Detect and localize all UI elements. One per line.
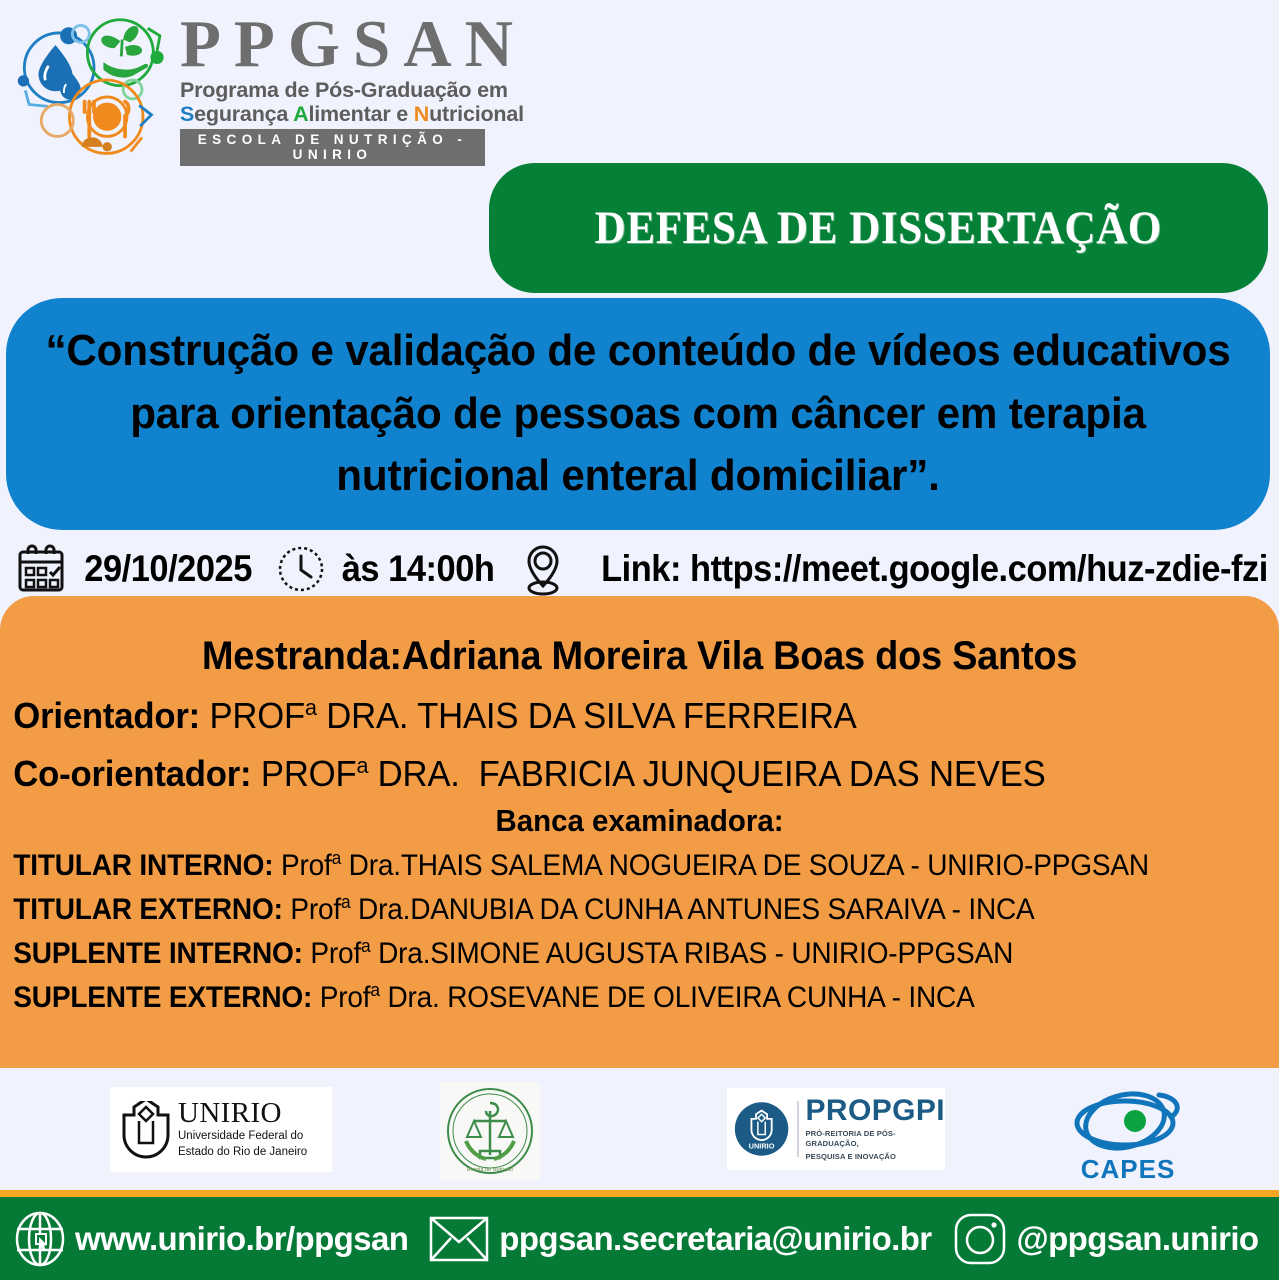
footer-accent-bar [0, 1190, 1279, 1197]
logo-acronym: PPGSAN [180, 13, 526, 77]
board-title: Banca examinadora: [32, 803, 1247, 839]
escola-nutricao-logo: Escola de Nutrição [440, 1082, 540, 1180]
globe-icon [14, 1210, 66, 1268]
ppgsan-logo-text: PPGSAN Programa de Pós-Graduação em Segu… [180, 9, 526, 166]
propgpi-badge-text: UNIRIO [749, 1141, 775, 1150]
capes-name: CAPES [1063, 1154, 1193, 1185]
footer-email-text[interactable]: ppgsan.secretaria@unirio.br [499, 1220, 931, 1258]
footer-website[interactable]: www.unirio.br/ppgsan [14, 1210, 408, 1268]
board-role: SUPLENTE INTERNO: [13, 937, 302, 970]
student-label: Mestranda: [202, 634, 402, 678]
board-member-name: Profa Dra.SIMONE AUGUSTA RIBAS - UNIRIO-… [310, 937, 1013, 970]
propgpi-sub2: PESQUISA E INOVAÇÃO [806, 1152, 946, 1162]
calendar-icon [14, 542, 68, 596]
coadvisor-row: Co-orientador: PROFa DRA. FABRICIA JUNQU… [0, 753, 1215, 795]
unirio-sub2: Estado do Rio de Janeiro [178, 1146, 307, 1160]
footer-email[interactable]: ppgsan.secretaria@unirio.br [428, 1213, 931, 1265]
advisor-label: Orientador: [13, 695, 200, 736]
location-pin-icon [518, 541, 568, 597]
student-row: Mestranda:Adriana Moreira Vila Boas dos … [32, 596, 1247, 679]
escola-seal-text: Escola de Nutrição [467, 1167, 513, 1173]
coadvisor-label: Co-orientador: [13, 753, 251, 794]
event-time-text: às 14:00h [342, 548, 495, 590]
unirio-logo: UNIRIO Universidade Federal do Estado do… [110, 1087, 332, 1172]
dissertation-title: “Construção e validação de conteúdo de v… [42, 320, 1233, 508]
event-date-text: 29/10/2025 [84, 548, 252, 590]
capes-logo: CAPES [1063, 1083, 1193, 1183]
ppgsan-icon-cluster [14, 13, 174, 163]
board-row: SUPLENTE INTERNO: Profa Dra.SIMONE AUGUS… [0, 935, 1215, 971]
advisor-row: Orientador: PROFa DRA. THAIS DA SILVA FE… [0, 695, 1215, 737]
propgpi-divider [797, 1101, 798, 1157]
event-time: às 14:00h [274, 542, 500, 596]
event-info-row: 29/10/2025 às 14:00h Link: https://meet.… [0, 536, 1279, 602]
advisor-name: PROFa DRA. THAIS DA SILVA FERREIRA [209, 695, 856, 736]
logo-nutricional: utricional [429, 102, 524, 126]
unirio-sub1: Universidade Federal do [178, 1130, 307, 1144]
board-role: SUPLENTE EXTERNO: [13, 981, 312, 1014]
footer-instagram-text[interactable]: @ppgsan.unirio [1017, 1220, 1259, 1258]
propgpi-unirio-badge-icon: UNIRIO [733, 1098, 790, 1160]
propgpi-logo: UNIRIO PROPGPI PRÓ-REITORIA DE PÓS-GRADU… [727, 1088, 945, 1170]
contact-footer: www.unirio.br/ppgsan ppgsan.secretaria@u… [0, 1197, 1279, 1280]
unirio-emblem-icon [120, 1101, 172, 1159]
board-member-name: Profa Dra.THAIS SALEMA NOGUEIRA DE SOUZA… [281, 849, 1149, 882]
instagram-icon [952, 1211, 1008, 1267]
footer-website-text[interactable]: www.unirio.br/ppgsan [75, 1220, 408, 1258]
capes-mark-icon [1063, 1083, 1193, 1153]
clock-icon [274, 542, 328, 596]
logo-line2: Segurança Alimentar e Nutricional [180, 102, 526, 126]
defense-banner-title: DEFESA DE DISSERTAÇÃO [595, 201, 1162, 255]
event-link-text[interactable]: Link: https://meet.google.com/huz-zdie-f… [601, 548, 1268, 590]
board-row: TITULAR EXTERNO: Profa Dra.DANUBIA DA CU… [0, 891, 1215, 927]
event-link[interactable]: Link: https://meet.google.com/huz-zdie-f… [518, 541, 1279, 597]
defense-banner: DEFESA DE DISSERTAÇÃO [489, 163, 1268, 293]
logo-n: N [414, 102, 429, 126]
logo-school-bar: ESCOLA DE NUTRIÇÃO - UNIRIO [180, 129, 485, 166]
board-member-name: Profa Dra. ROSEVANE DE OLIVEIRA CUNHA - … [320, 981, 975, 1014]
propgpi-sub1: PRÓ-REITORIA DE PÓS-GRADUAÇÃO, [806, 1129, 946, 1150]
coadvisor-name: PROFa DRA. FABRICIA JUNQUEIRA DAS NEVES [261, 753, 1046, 794]
propgpi-name: PROPGPI [806, 1096, 946, 1126]
logo-line1: Programa de Pós-Graduação em [180, 78, 526, 102]
board-row: SUPLENTE EXTERNO: Profa Dra. ROSEVANE DE… [0, 979, 1215, 1015]
board-role: TITULAR INTERNO: [13, 849, 273, 882]
board-member-name: Profa Dra.DANUBIA DA CUNHA ANTUNES SARAI… [290, 893, 1034, 926]
board-row: TITULAR INTERNO: Profa Dra.THAIS SALEMA … [0, 847, 1215, 883]
logo-alimentar: limentar e [308, 102, 413, 126]
dissertation-title-box: “Construção e validação de conteúdo de v… [6, 298, 1270, 530]
unirio-name: UNIRIO [178, 1099, 307, 1128]
logo-a: A [293, 102, 308, 126]
event-date: 29/10/2025 [14, 542, 258, 596]
envelope-icon [428, 1213, 490, 1265]
logo-seguranca: egurança [194, 102, 293, 126]
escola-nutricao-seal-icon: Escola de Nutrição [444, 1085, 536, 1177]
board-role: TITULAR EXTERNO: [13, 893, 282, 926]
footer-instagram[interactable]: @ppgsan.unirio [952, 1211, 1259, 1267]
details-panel: Mestranda:Adriana Moreira Vila Boas dos … [0, 596, 1279, 1068]
logo-s: S [180, 102, 194, 126]
ppgsan-logo-mark [14, 13, 174, 163]
ppgsan-logo: PPGSAN Programa de Pós-Graduação em Segu… [14, 10, 514, 165]
student-name: Adriana Moreira Vila Boas dos Santos [402, 634, 1077, 678]
